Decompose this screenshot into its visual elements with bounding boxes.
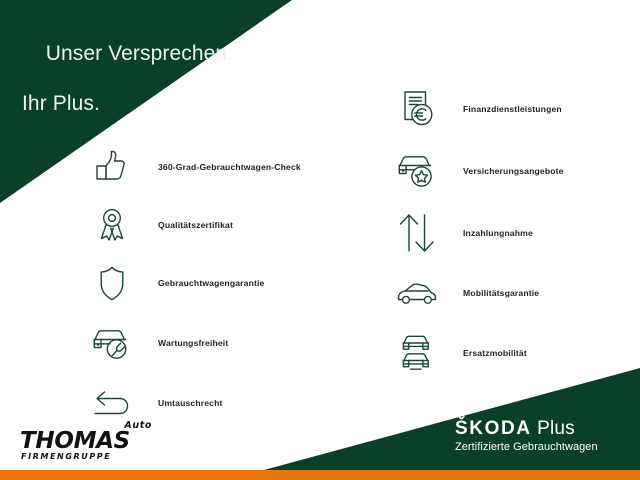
document-euro-icon — [395, 86, 439, 132]
feature-label: Qualitätszertifikat — [134, 220, 233, 231]
car-star-icon — [395, 148, 439, 194]
brand-logo-title: ŠKODA Plus — [455, 418, 630, 439]
feature-label: Inzahlungnahme — [439, 228, 533, 239]
feature-item-insurance-offers: Versicherungsangebote — [395, 140, 630, 202]
feature-item-quality-certificate: Qualitätszertifikat — [90, 196, 350, 254]
feature-item-used-car-warranty: Gebrauchtwagengarantie — [90, 254, 350, 312]
feature-list-left: 360-Grad-Gebrauchtwagen-Check Qualitätsz… — [90, 138, 350, 432]
brand-suffix: Plus — [532, 418, 575, 439]
page-title-line-2: Ihr Plus. — [22, 91, 233, 116]
feature-item-replacement-mobility: Ersatzmobilität — [395, 322, 630, 384]
up-down-arrows-icon — [395, 210, 439, 256]
dealer-logo: Auto THOMAS FIRMENGRUPPE — [20, 420, 155, 462]
dealer-logo-firmengruppe-text: FIRMENGRUPPE — [21, 452, 111, 461]
feature-list-right: Finanzdienstleistungen Versicherungsange… — [395, 78, 630, 384]
feature-label: Mobilitätsgarantie — [439, 288, 539, 299]
brand-logo: ŠKODA Plus Zertifizierte Gebrauchtwagen — [455, 418, 630, 454]
feature-label: Umtauschrecht — [134, 398, 223, 409]
feature-item-maintenance-free: Wartungsfreiheit — [90, 312, 350, 374]
feature-label: Versicherungsangebote — [439, 166, 564, 177]
feature-label: 360-Grad-Gebrauchtwagen-Check — [134, 162, 301, 173]
feature-label: Finanzdienstleistungen — [439, 104, 562, 115]
brand-name: ŠKODA — [455, 418, 532, 439]
feature-item-financial-services: Finanzdienstleistungen — [395, 78, 630, 140]
feature-label: Wartungsfreiheit — [134, 338, 228, 349]
thumbs-up-icon — [90, 144, 134, 190]
car-side-icon — [395, 270, 439, 316]
brand-tagline: Zertifizierte Gebrauchtwagen — [455, 440, 630, 454]
feature-label: Gebrauchtwagengarantie — [134, 278, 264, 289]
page-title-line-1: Unser Versprechen. — [46, 42, 233, 65]
award-ribbon-icon — [90, 202, 134, 248]
bottom-accent-bar — [0, 470, 640, 480]
shield-icon — [90, 260, 134, 306]
dealer-logo-thomas-text: THOMAS — [20, 428, 130, 454]
car-wrench-icon — [90, 320, 134, 366]
feature-item-trade-in: Inzahlungnahme — [395, 202, 630, 264]
feature-item-mobility-guarantee: Mobilitätsgarantie — [395, 264, 630, 322]
promo-banner: Unser Versprechen. Ihr Plus. 360-Grad-Ge… — [0, 0, 640, 480]
feature-label: Ersatzmobilität — [439, 348, 527, 359]
feature-item-360-check: 360-Grad-Gebrauchtwagen-Check — [90, 138, 350, 196]
two-cars-icon — [395, 330, 439, 376]
